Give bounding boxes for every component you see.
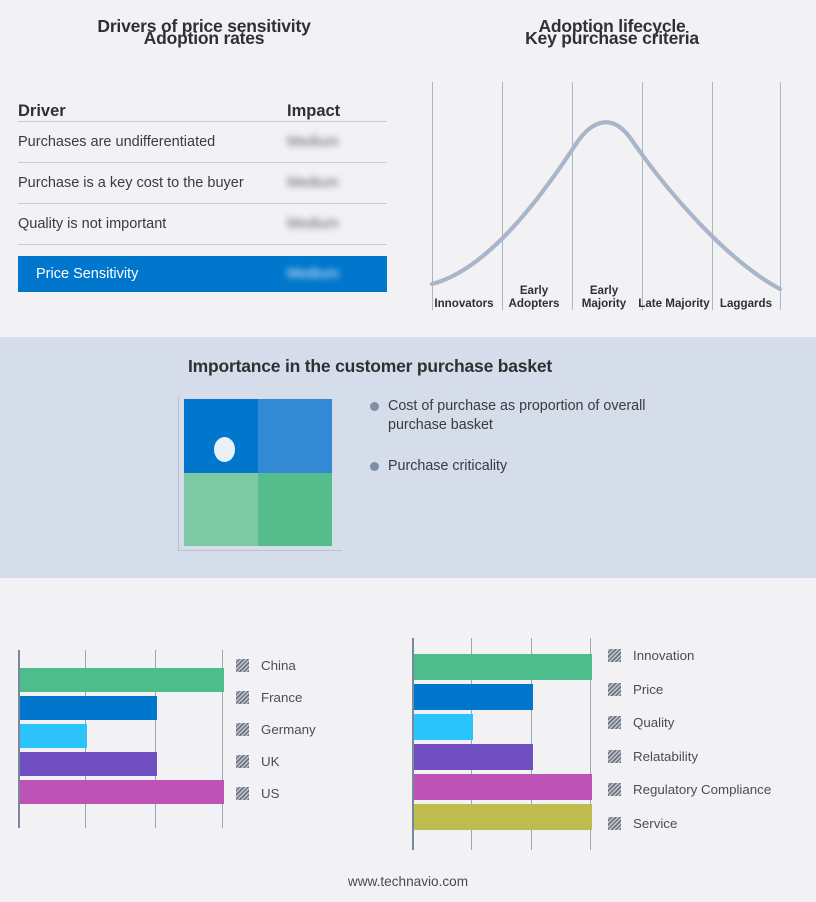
- lifecycle-stage-label: Early Majority: [568, 284, 640, 310]
- bar: [20, 696, 157, 720]
- legend-item: UK: [236, 754, 279, 769]
- legend-label: Service: [633, 816, 677, 831]
- lifecycle-stage-label: Laggards: [711, 297, 781, 310]
- legend-label: UK: [261, 754, 279, 769]
- legend-item: Relatability: [608, 749, 698, 764]
- legend-item: Germany: [236, 722, 316, 737]
- legend-swatch-icon: [608, 649, 621, 662]
- driver-name: Purchases are undifferentiated: [18, 134, 287, 150]
- lifecycle-chart: [426, 82, 801, 307]
- table-row: Purchases are undifferentiated Medium: [18, 122, 387, 163]
- quadrant-cell-bottom-left: [184, 473, 258, 547]
- legend-item: US: [236, 786, 279, 801]
- bar: [20, 724, 87, 748]
- legend-swatch-icon: [608, 817, 621, 830]
- bar: [414, 804, 592, 830]
- lifecycle-stage-label: Innovators: [426, 297, 502, 310]
- importance-legend: Cost of purchase as proportion of overal…: [370, 397, 710, 498]
- legend-swatch-icon: [608, 683, 621, 696]
- criteria-panel: InnovationPriceQualityRelatabilityRegula…: [408, 578, 816, 902]
- importance-quadrant-chart: [184, 399, 342, 555]
- legend-swatch-icon: [236, 691, 249, 704]
- importance-panel-title: Importance in the customer purchase bask…: [0, 356, 740, 377]
- bar: [414, 774, 592, 800]
- legend-item: Price: [608, 682, 663, 697]
- adoption-plot-area: [18, 650, 222, 828]
- bar: [20, 668, 224, 692]
- table-row: Purchase is a key cost to the buyer Medi…: [18, 163, 387, 204]
- importance-panel: Importance in the customer purchase bask…: [0, 337, 816, 578]
- bar: [414, 654, 592, 680]
- legend-label: Quality: [633, 715, 674, 730]
- lifecycle-dividers: [433, 82, 781, 310]
- drivers-panel: Driver Impact Purchases are undifferenti…: [0, 0, 408, 337]
- driver-impact: Medium: [287, 175, 387, 191]
- quadrant-grid: [184, 399, 332, 546]
- adoption-panel: ChinaFranceGermanyUKUS: [0, 578, 408, 902]
- legend-item: Regulatory Compliance: [608, 782, 771, 797]
- legend-label: Regulatory Compliance: [633, 782, 771, 797]
- legend-label: Purchase criticality: [388, 457, 507, 476]
- adoption-bar-chart: ChinaFranceGermanyUKUS: [18, 650, 398, 828]
- driver-impact: Medium: [287, 266, 387, 282]
- lifecycle-curve-svg: [426, 82, 801, 310]
- driver-name: Price Sensitivity: [36, 266, 287, 282]
- driver-impact: Medium: [287, 216, 387, 232]
- driver-name: Quality is not important: [18, 216, 287, 232]
- quadrant-y-axis: [178, 397, 179, 550]
- infographic-page: Drivers of price sensitivity Driver Impa…: [0, 0, 816, 902]
- legend-item: Quality: [608, 715, 674, 730]
- legend-item: France: [236, 690, 302, 705]
- lifecycle-stage-label: Late Majority: [638, 297, 710, 310]
- legend-swatch-icon: [236, 787, 249, 800]
- legend-item: Innovation: [608, 648, 694, 663]
- bar: [20, 752, 157, 776]
- driver-impact: Medium: [287, 134, 387, 150]
- legend-swatch-icon: [608, 783, 621, 796]
- legend-label: China: [261, 658, 296, 673]
- lifecycle-stage-labels: Innovators Early Adopters Early Majority…: [426, 280, 801, 310]
- column-header-impact: Impact: [287, 102, 387, 121]
- criteria-bar-chart: InnovationPriceQualityRelatabilityRegula…: [412, 638, 812, 850]
- legend-label: Innovation: [633, 648, 694, 663]
- bar: [414, 684, 533, 710]
- legend-label: Relatability: [633, 749, 698, 764]
- drivers-table: Driver Impact Purchases are undifferenti…: [18, 92, 387, 292]
- bar: [414, 744, 533, 770]
- bar: [414, 714, 473, 740]
- quadrant-x-axis: [178, 550, 342, 551]
- lifecycle-panel: Innovators Early Adopters Early Majority…: [408, 0, 816, 337]
- legend-swatch-icon: [608, 716, 621, 729]
- driver-name: Purchase is a key cost to the buyer: [18, 175, 287, 191]
- legend-label: Germany: [261, 722, 316, 737]
- legend-bullet-icon: [370, 402, 379, 411]
- legend-item: Cost of purchase as proportion of overal…: [370, 397, 710, 435]
- quadrant-cell-bottom-right: [258, 473, 332, 547]
- criteria-plot-area: [412, 638, 590, 850]
- legend-bullet-icon: [370, 462, 379, 471]
- legend-swatch-icon: [236, 723, 249, 736]
- legend-label: Price: [633, 682, 663, 697]
- legend-swatch-icon: [236, 755, 249, 768]
- lifecycle-bell-curve: [432, 122, 780, 289]
- criteria-panel-title: Key purchase criteria: [408, 28, 816, 49]
- drivers-table-header: Driver Impact: [18, 92, 387, 122]
- legend-label: Cost of purchase as proportion of overal…: [388, 397, 648, 435]
- footer-url: www.technavio.com: [0, 874, 816, 889]
- legend-item: Purchase criticality: [370, 457, 710, 476]
- table-row: Quality is not important Medium: [18, 204, 387, 245]
- quadrant-position-marker: [214, 437, 235, 462]
- table-row-highlighted: Price Sensitivity Medium: [18, 256, 387, 292]
- column-header-driver: Driver: [18, 102, 287, 121]
- legend-item: Service: [608, 816, 677, 831]
- adoption-panel-title: Adoption rates: [0, 28, 408, 49]
- legend-swatch-icon: [608, 750, 621, 763]
- legend-label: France: [261, 690, 302, 705]
- legend-item: China: [236, 658, 296, 673]
- legend-swatch-icon: [236, 659, 249, 672]
- bar: [20, 780, 224, 804]
- legend-label: US: [261, 786, 279, 801]
- quadrant-cell-top-right: [258, 399, 332, 473]
- lifecycle-stage-label: Early Adopters: [498, 284, 570, 310]
